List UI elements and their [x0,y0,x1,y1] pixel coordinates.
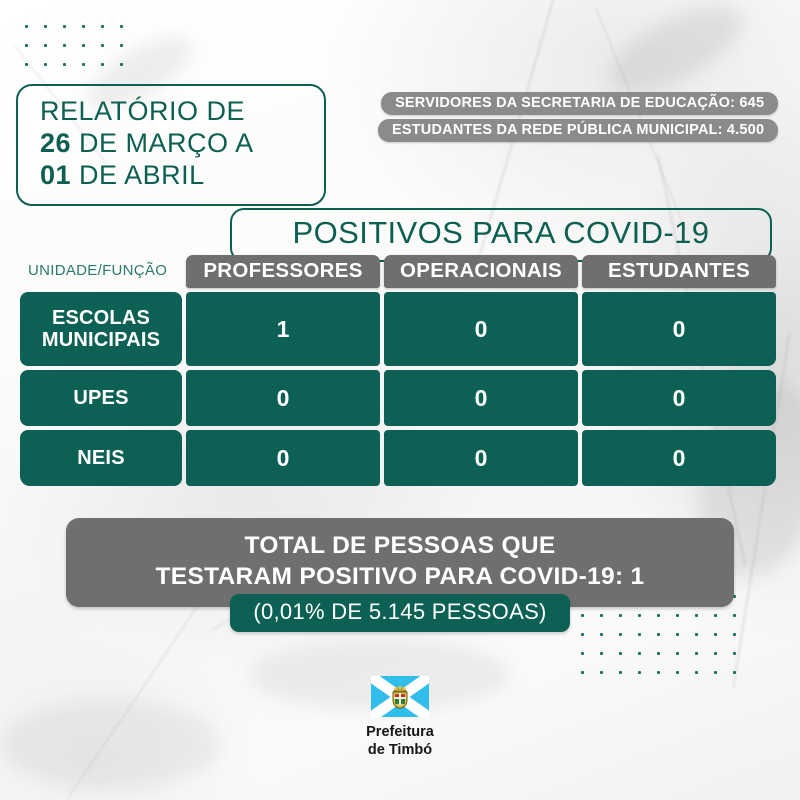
footer-name-line2: de Timbó [366,742,434,760]
report-end-date: 01 DE ABRIL [40,160,324,192]
report-end-month: DE ABRIL [71,160,205,190]
stat-pill-servidores: SERVIDORES DA SECRETARIA DE EDUCAÇÃO: 64… [381,92,778,115]
total-percentage-badge: (0,01% DE 5.145 PESSOAS) [230,594,570,632]
table-row: UPES 0 0 0 [20,370,776,426]
footer-name-line1: Prefeitura [366,724,434,742]
cell-neis-operacionais: 0 [384,430,578,486]
report-start-day: 26 [40,128,71,158]
cell-escolas-professores: 1 [186,292,380,366]
footer-logo-block: Prefeitura de Timbó [0,676,800,759]
cell-upes-operacionais: 0 [384,370,578,426]
column-header-operacionais: OPERACIONAIS [384,255,578,288]
coat-of-arms-icon [390,685,410,709]
infographic-poster: RELATÓRIO DE 26 DE MARÇO A 01 DE ABRIL S… [0,0,800,800]
cell-upes-professores: 0 [186,370,380,426]
report-heading: RELATÓRIO DE [40,96,324,128]
cell-neis-estudantes: 0 [582,430,776,486]
row-label-escolas-municipais: ESCOLAS MUNICIPAIS [20,292,182,366]
stat-pill-estudantes: ESTUDANTES DA REDE PÚBLICA MUNICIPAL: 4.… [378,119,778,142]
report-start-date: 26 DE MARÇO A [40,128,324,160]
cell-upes-estudantes: 0 [582,370,776,426]
row-label-neis: NEIS [20,430,182,486]
report-start-month: DE MARÇO A [71,128,254,158]
row-label-line1: ESCOLAS [42,307,160,329]
report-end-day: 01 [40,160,71,190]
table-header-row: PROFESSORES OPERACIONAIS ESTUDANTES [186,255,776,288]
table-row: ESCOLAS MUNICIPAIS 1 0 0 [20,292,776,366]
report-period-block: RELATÓRIO DE 26 DE MARÇO A 01 DE ABRIL [16,84,326,206]
timbo-flag-icon [371,676,429,717]
stat-pill-group: SERVIDORES DA SECRETARIA DE EDUCAÇÃO: 64… [378,92,778,142]
row-label-upes: UPES [20,370,182,426]
total-line-1: TOTAL DE PESSOAS QUE [84,531,716,562]
cell-escolas-estudantes: 0 [582,292,776,366]
column-header-professores: PROFESSORES [186,255,380,288]
cell-escolas-operacionais: 0 [384,292,578,366]
section-title: POSITIVOS PARA COVID-19 [230,208,772,262]
total-line-2: TESTARAM POSITIVO PARA COVID-19: 1 [84,562,716,593]
dot-grid-decoration-top-left [14,14,124,76]
row-label-line2: MUNICIPAIS [42,329,160,351]
footer-municipality-name: Prefeitura de Timbó [366,724,434,759]
column-header-estudantes: ESTUDANTES [582,255,776,288]
table-row: NEIS 0 0 0 [20,430,776,486]
cell-neis-professores: 0 [186,430,380,486]
covid-results-table: PROFESSORES OPERACIONAIS ESTUDANTES ESCO… [20,255,776,490]
